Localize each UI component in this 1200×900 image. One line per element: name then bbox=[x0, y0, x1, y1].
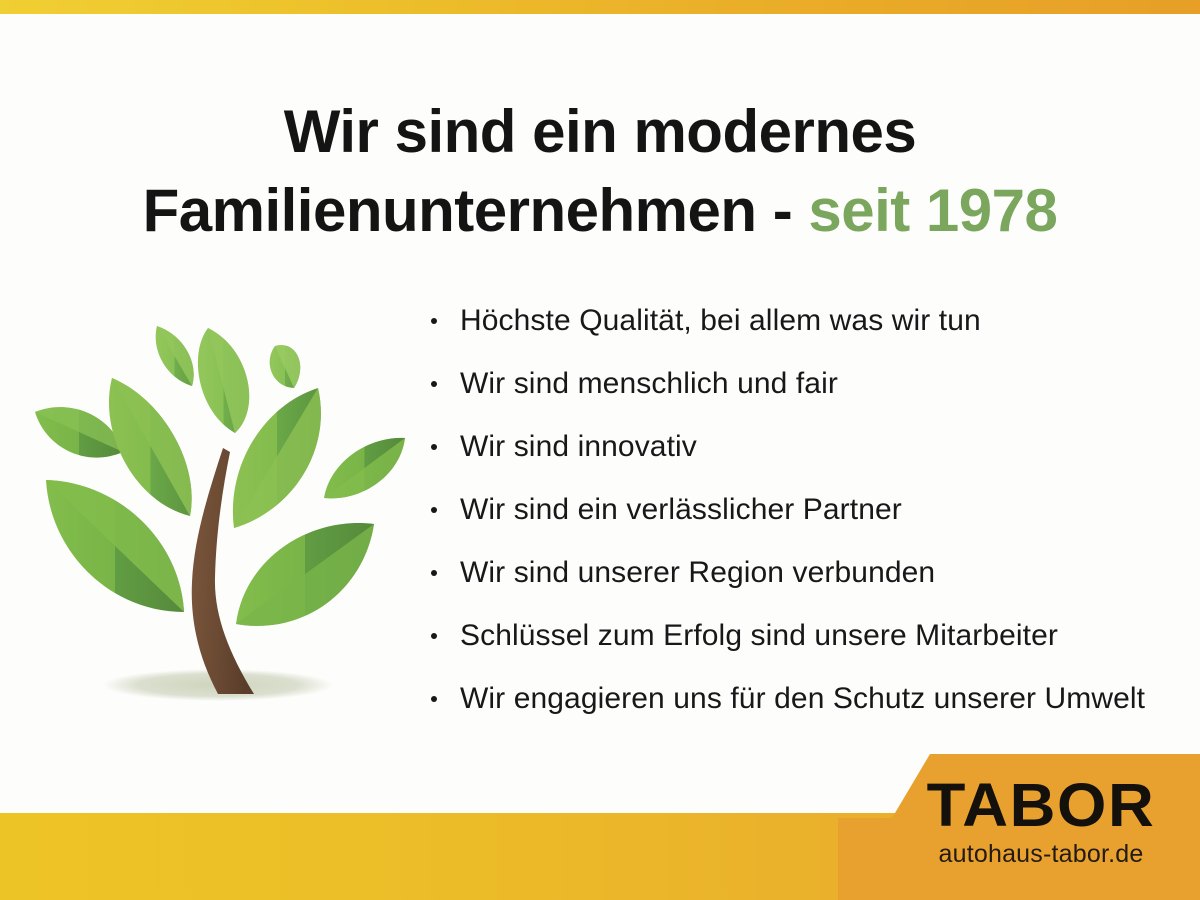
page-title: Wir sind ein modernes Familienunternehme… bbox=[60, 92, 1140, 250]
bullet-dot-icon bbox=[431, 570, 437, 576]
bullet-dot-icon bbox=[431, 696, 437, 702]
leaf-right-lower bbox=[236, 523, 374, 626]
list-item-label: Höchste Qualität, bei allem was wir tun bbox=[460, 304, 981, 337]
brand-wordmark: TABOR bbox=[890, 774, 1192, 836]
list-item: Wir engagieren uns für den Schutz unsere… bbox=[428, 667, 1188, 730]
headline-accent: seit 1978 bbox=[808, 177, 1057, 244]
brand-website-url: autohaus-tabor.de bbox=[896, 840, 1186, 869]
bullet-dot-icon bbox=[431, 318, 437, 324]
bullet-dot-icon bbox=[431, 381, 437, 387]
leaf-top-small-right bbox=[270, 345, 301, 388]
list-item: Wir sind innovativ bbox=[428, 415, 1188, 478]
tree-illustration bbox=[22, 302, 418, 714]
list-item-label: Schlüssel zum Erfolg sind unsere Mitarbe… bbox=[460, 619, 1058, 652]
tree-icon bbox=[22, 302, 418, 714]
list-item: Wir sind menschlich und fair bbox=[428, 352, 1188, 415]
brand-logo[interactable]: TABOR autohaus-tabor.de bbox=[838, 754, 1200, 900]
list-item-label: Wir sind unserer Region verbunden bbox=[460, 556, 935, 589]
top-accent-bar bbox=[0, 0, 1200, 14]
value-list: Höchste Qualität, bei allem was wir tun … bbox=[428, 289, 1188, 730]
list-item: Schlüssel zum Erfolg sind unsere Mitarbe… bbox=[428, 604, 1188, 667]
bullet-dot-icon bbox=[431, 507, 437, 513]
bullet-dot-icon bbox=[431, 633, 437, 639]
leaf-left-upper bbox=[109, 378, 192, 516]
headline-line-2-plain: Familienunternehmen - bbox=[143, 177, 809, 244]
leaf-top-center bbox=[198, 328, 249, 433]
list-item-label: Wir sind innovativ bbox=[460, 430, 697, 463]
slide-canvas: Wir sind ein modernes Familienunternehme… bbox=[0, 0, 1200, 900]
list-item-label: Wir sind ein verlässlicher Partner bbox=[460, 493, 902, 526]
list-item: Höchste Qualität, bei allem was wir tun bbox=[428, 289, 1188, 352]
list-item-label: Wir engagieren uns für den Schutz unsere… bbox=[460, 682, 1145, 715]
list-item: Wir sind unserer Region verbunden bbox=[428, 541, 1188, 604]
list-item-label: Wir sind menschlich und fair bbox=[460, 367, 838, 400]
list-item: Wir sind ein verlässlicher Partner bbox=[428, 478, 1188, 541]
bullet-dot-icon bbox=[431, 444, 437, 450]
leaf-top-small-left bbox=[156, 326, 194, 386]
headline-line-1: Wir sind ein modernes bbox=[60, 92, 1140, 171]
headline-line-2: Familienunternehmen - seit 1978 bbox=[60, 171, 1140, 250]
leaf-right-outer bbox=[324, 438, 405, 499]
